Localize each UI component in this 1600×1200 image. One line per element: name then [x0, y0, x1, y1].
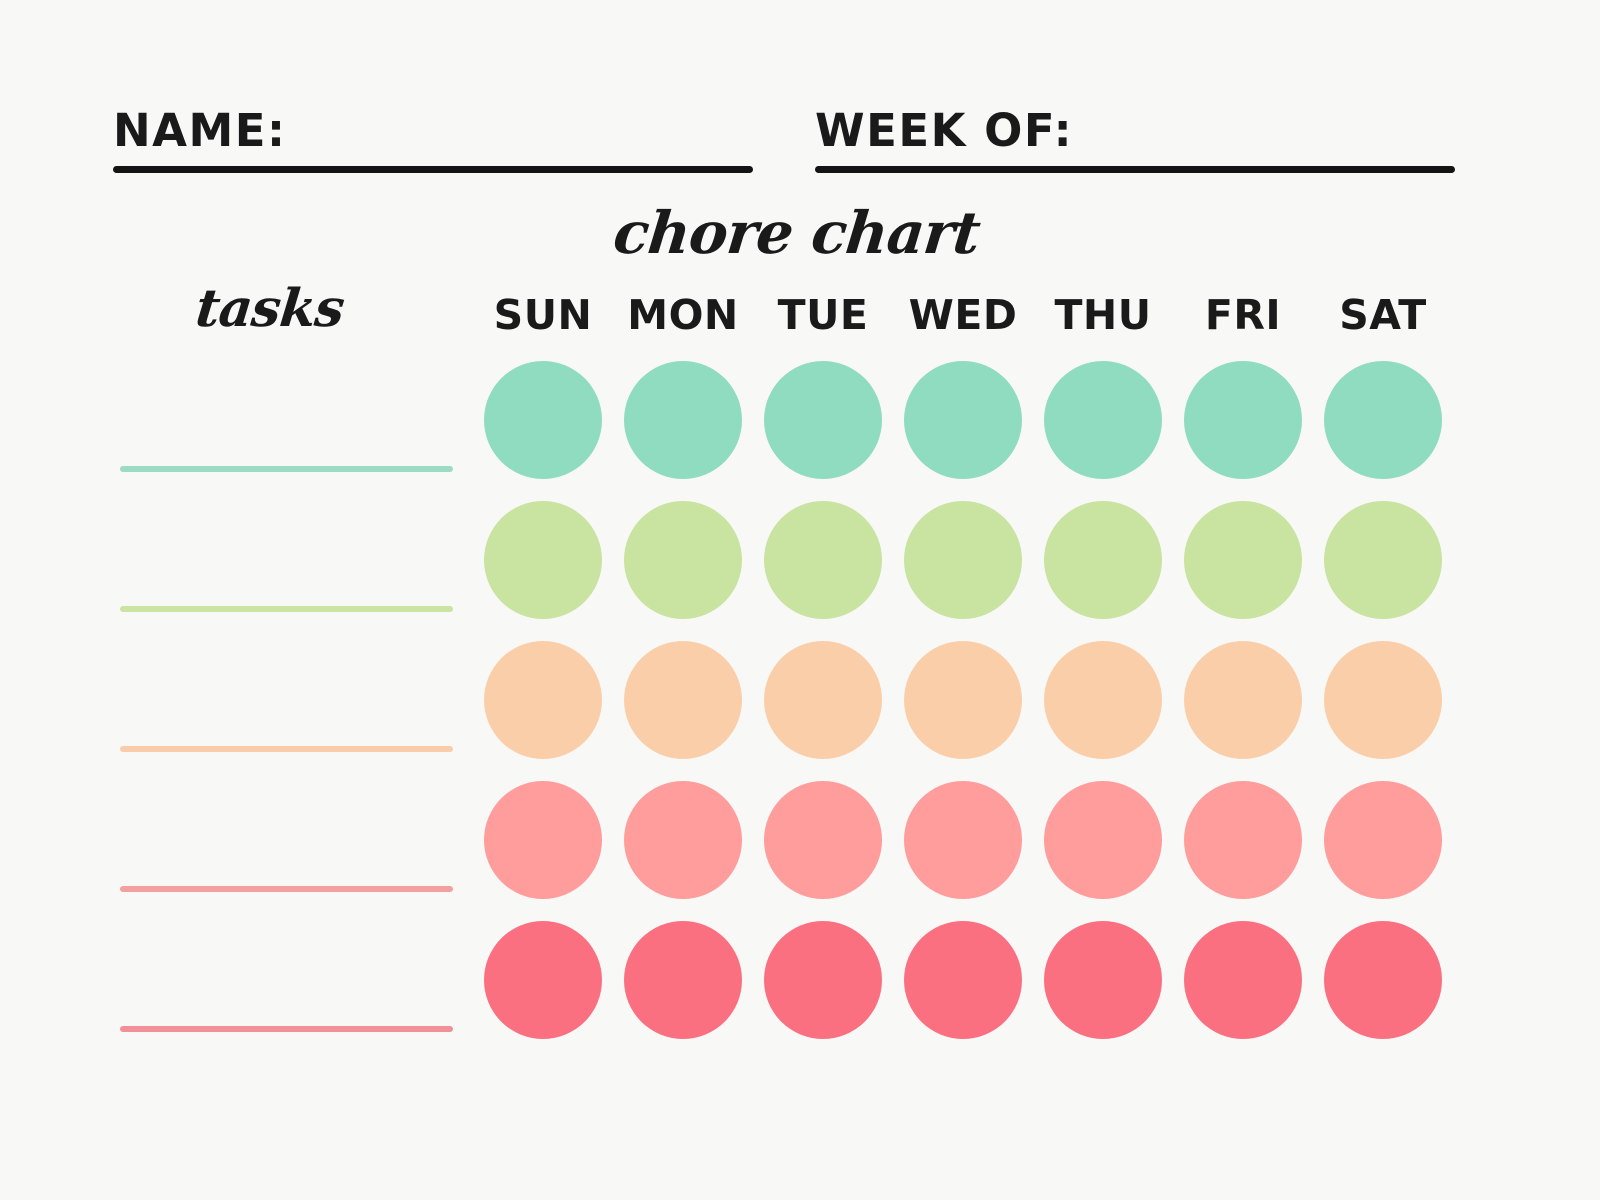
chore-dot-cell-thu[interactable] — [1033, 490, 1173, 630]
chore-dot-icon[interactable] — [1044, 921, 1162, 1039]
task-input-cell[interactable] — [113, 910, 473, 1050]
chore-dot-cell-tue[interactable] — [753, 910, 893, 1050]
chore-dot-icon[interactable] — [1324, 361, 1442, 479]
chore-dot-cell-thu[interactable] — [1033, 910, 1173, 1050]
chore-row — [113, 350, 1453, 490]
chore-dot-cell-thu[interactable] — [1033, 630, 1173, 770]
chore-dot-icon[interactable] — [764, 501, 882, 619]
day-header-mon: MON — [613, 295, 753, 336]
task-input-cell[interactable] — [113, 630, 473, 770]
chore-dot-icon[interactable] — [904, 921, 1022, 1039]
chore-row — [113, 490, 1453, 630]
chore-dot-cell-thu[interactable] — [1033, 770, 1173, 910]
day-header-sun: SUN — [473, 295, 613, 336]
page-title: chore chart — [611, 204, 982, 262]
chore-row — [113, 910, 1453, 1050]
chore-dot-cell-fri[interactable] — [1173, 350, 1313, 490]
day-header-spacer — [113, 315, 473, 316]
chore-dot-cell-mon[interactable] — [613, 350, 753, 490]
chore-dot-cell-wed[interactable] — [893, 630, 1033, 770]
chore-dot-icon[interactable] — [1044, 501, 1162, 619]
name-field[interactable]: NAME: — [113, 108, 753, 173]
chore-grid: SUN MON TUE WED THU FRI SAT — [113, 280, 1453, 1050]
chore-dot-cell-tue[interactable] — [753, 350, 893, 490]
chore-dot-cell-sat[interactable] — [1313, 490, 1453, 630]
chore-dot-icon[interactable] — [1324, 641, 1442, 759]
chore-dot-icon[interactable] — [624, 501, 742, 619]
chore-dot-cell-wed[interactable] — [893, 350, 1033, 490]
chore-dot-icon[interactable] — [624, 781, 742, 899]
chore-dot-icon[interactable] — [624, 641, 742, 759]
chore-row — [113, 630, 1453, 770]
task-input-cell[interactable] — [113, 350, 473, 490]
chore-dot-icon[interactable] — [1044, 781, 1162, 899]
name-field-label: NAME: — [113, 108, 753, 153]
week-of-field[interactable]: WEEK OF: — [815, 108, 1455, 173]
chore-dot-icon[interactable] — [764, 361, 882, 479]
chore-dot-cell-sat[interactable] — [1313, 350, 1453, 490]
chore-dot-cell-fri[interactable] — [1173, 910, 1313, 1050]
week-of-field-rule[interactable] — [815, 166, 1455, 173]
chore-dot-icon[interactable] — [1184, 641, 1302, 759]
task-write-line[interactable] — [120, 886, 453, 892]
chore-dot-cell-sun[interactable] — [473, 630, 613, 770]
chore-rows — [113, 350, 1453, 1050]
chore-dot-icon[interactable] — [1184, 781, 1302, 899]
name-field-rule[interactable] — [113, 166, 753, 173]
chore-dot-icon[interactable] — [1324, 501, 1442, 619]
chore-dot-cell-mon[interactable] — [613, 490, 753, 630]
task-input-cell[interactable] — [113, 490, 473, 630]
day-header-thu: THU — [1033, 295, 1173, 336]
chore-dot-cell-mon[interactable] — [613, 770, 753, 910]
chore-dot-icon[interactable] — [1044, 641, 1162, 759]
chore-dot-cell-fri[interactable] — [1173, 630, 1313, 770]
chore-row — [113, 770, 1453, 910]
chore-dot-cell-fri[interactable] — [1173, 770, 1313, 910]
day-header-sat: SAT — [1313, 295, 1453, 336]
chore-dot-icon[interactable] — [904, 501, 1022, 619]
chore-dot-icon[interactable] — [1184, 921, 1302, 1039]
chore-dot-cell-sun[interactable] — [473, 490, 613, 630]
chore-dot-icon[interactable] — [1324, 781, 1442, 899]
chore-dot-icon[interactable] — [1324, 921, 1442, 1039]
chore-dot-icon[interactable] — [624, 921, 742, 1039]
chore-dot-cell-sun[interactable] — [473, 770, 613, 910]
day-header-fri: FRI — [1173, 295, 1313, 336]
task-input-cell[interactable] — [113, 770, 473, 910]
chore-dot-icon[interactable] — [1044, 361, 1162, 479]
chore-dot-cell-wed[interactable] — [893, 770, 1033, 910]
day-header-tue: TUE — [753, 295, 893, 336]
chore-dot-icon[interactable] — [764, 641, 882, 759]
task-write-line[interactable] — [120, 746, 453, 752]
chore-chart-sheet: NAME: WEEK OF: chore chart tasks SUN MON… — [0, 0, 1600, 1200]
chore-dot-icon[interactable] — [624, 361, 742, 479]
chore-dot-cell-sat[interactable] — [1313, 770, 1453, 910]
day-header-wed: WED — [893, 295, 1033, 336]
chore-dot-cell-fri[interactable] — [1173, 490, 1313, 630]
task-write-line[interactable] — [120, 606, 453, 612]
chore-dot-cell-sat[interactable] — [1313, 910, 1453, 1050]
chore-dot-cell-sat[interactable] — [1313, 630, 1453, 770]
chore-dot-icon[interactable] — [484, 921, 602, 1039]
chore-dot-icon[interactable] — [904, 361, 1022, 479]
chore-dot-cell-tue[interactable] — [753, 490, 893, 630]
chore-dot-icon[interactable] — [904, 641, 1022, 759]
chore-dot-cell-tue[interactable] — [753, 630, 893, 770]
chore-dot-cell-sun[interactable] — [473, 350, 613, 490]
chore-dot-cell-tue[interactable] — [753, 770, 893, 910]
chore-dot-cell-mon[interactable] — [613, 910, 753, 1050]
chore-dot-icon[interactable] — [764, 921, 882, 1039]
chore-dot-icon[interactable] — [1184, 361, 1302, 479]
chore-dot-icon[interactable] — [904, 781, 1022, 899]
week-of-field-label: WEEK OF: — [815, 108, 1455, 153]
task-write-line[interactable] — [120, 466, 453, 472]
chore-dot-icon[interactable] — [484, 501, 602, 619]
task-write-line[interactable] — [120, 1026, 453, 1032]
chore-dot-icon[interactable] — [484, 361, 602, 479]
chore-dot-cell-sun[interactable] — [473, 910, 613, 1050]
chore-dot-cell-wed[interactable] — [893, 910, 1033, 1050]
chore-dot-icon[interactable] — [764, 781, 882, 899]
chore-dot-cell-thu[interactable] — [1033, 350, 1173, 490]
chore-dot-cell-mon[interactable] — [613, 630, 753, 770]
chore-dot-icon[interactable] — [1184, 501, 1302, 619]
chore-dot-icon[interactable] — [484, 781, 602, 899]
day-header-row: SUN MON TUE WED THU FRI SAT — [113, 280, 1453, 350]
chore-dot-icon[interactable] — [484, 641, 602, 759]
chore-dot-cell-wed[interactable] — [893, 490, 1033, 630]
